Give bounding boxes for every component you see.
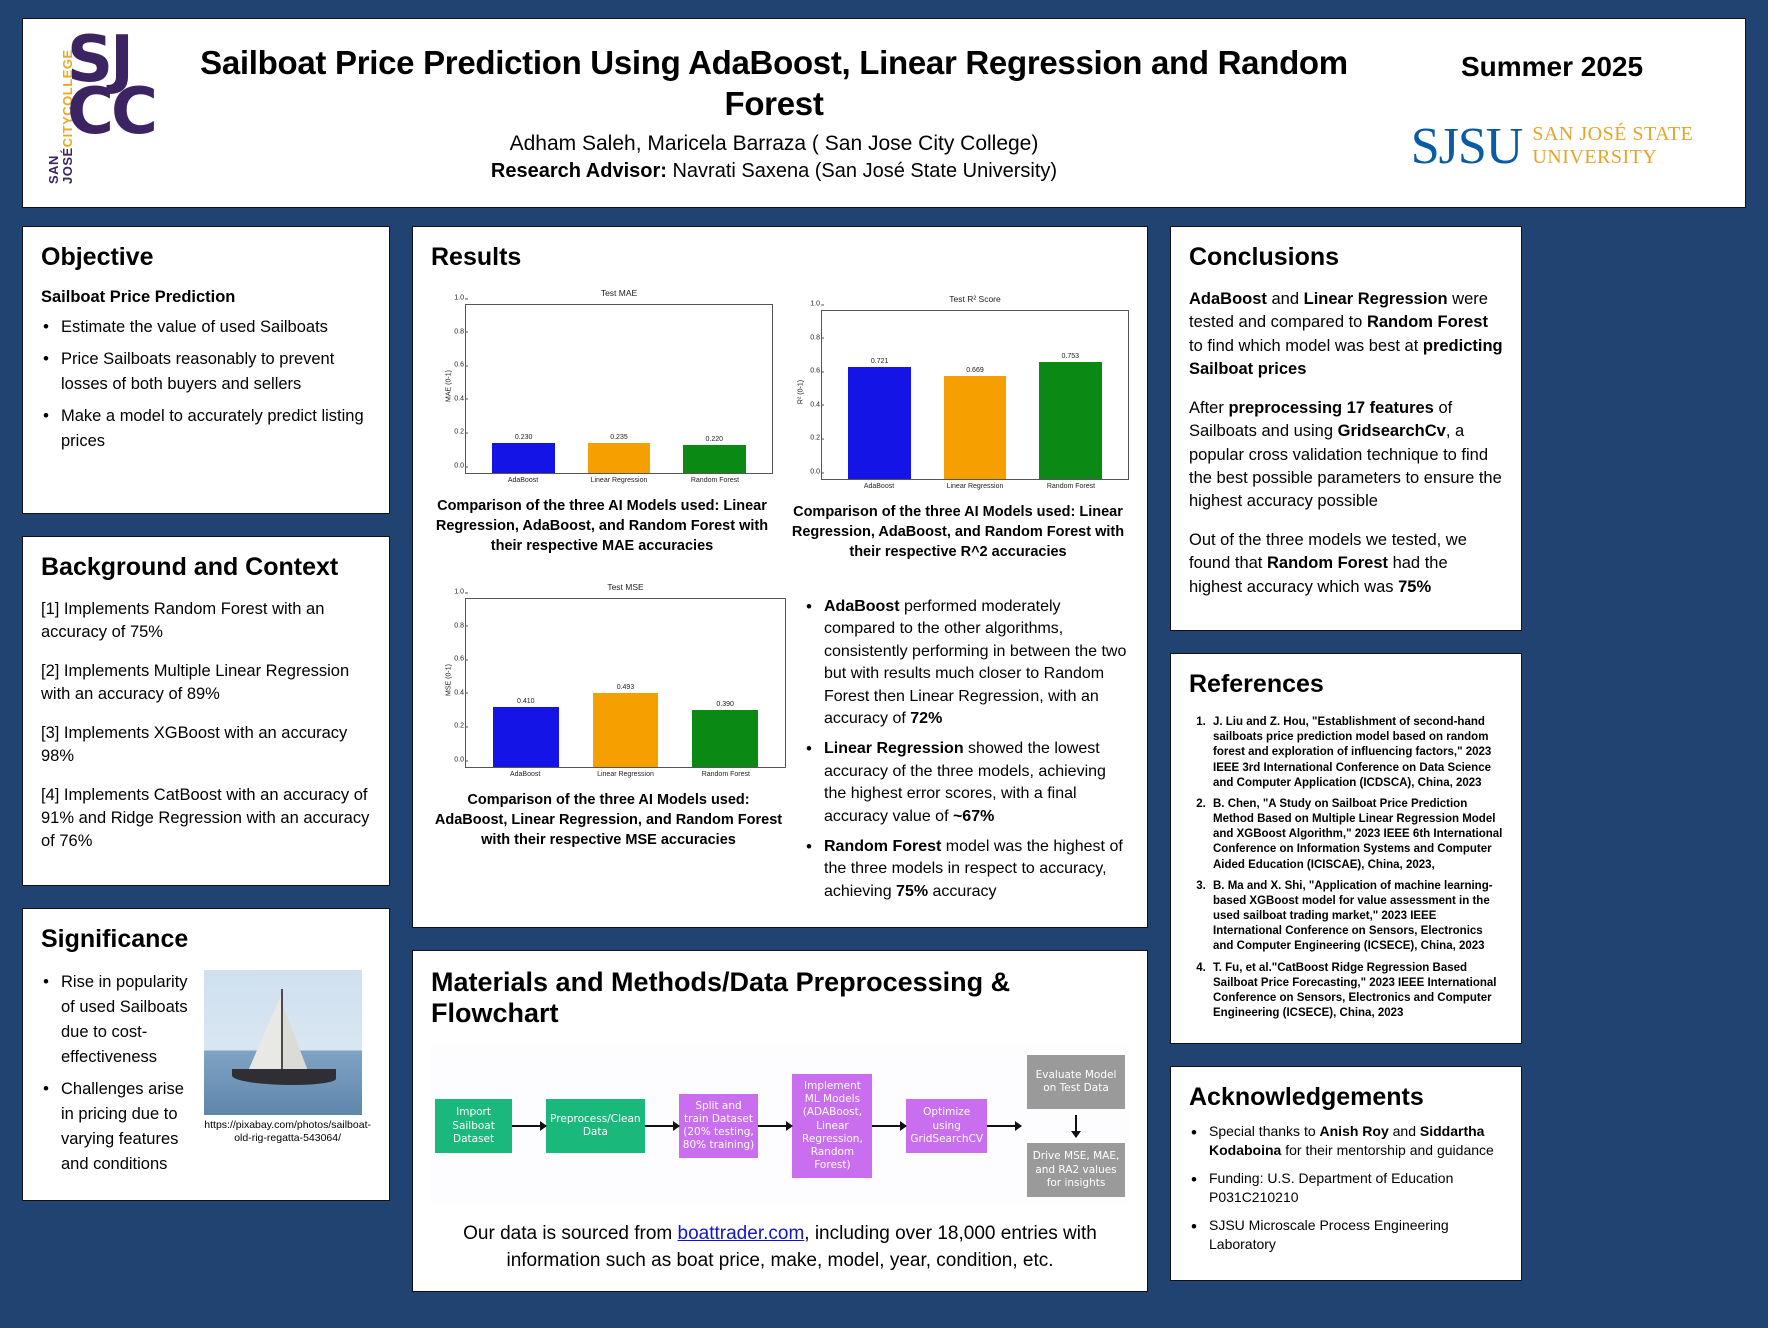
ack-bold: Anish Roy (1320, 1123, 1389, 1139)
methods-heading: Materials and Methods/Data Preprocessing… (431, 967, 1129, 1029)
boattrader-link[interactable]: boattrader.com (678, 1223, 805, 1244)
sjsu-logo-icon: SJSU SAN JOSÉ STATE UNIVERSITY (1377, 117, 1727, 176)
x-tick: Random Forest (683, 477, 746, 484)
objective-card: Objective Sailboat Price Prediction Esti… (22, 226, 390, 514)
ack-text: Special thanks to (1209, 1123, 1320, 1139)
data-source-note: Our data is sourced from boattrader.com,… (431, 1221, 1129, 1275)
acknowledgement-list: Special thanks to Anish Roy and Siddarth… (1189, 1122, 1503, 1254)
conclusions-card: Conclusions AdaBoost and Linear Regressi… (1170, 226, 1522, 631)
list-item: AdaBoost performed moderately compared t… (804, 596, 1129, 730)
chart-test-mae: Test MAE MAE (0-1) 0.0 0.2 0.4 0.6 0.8 1… (431, 288, 773, 562)
bar (683, 445, 746, 473)
sjsu-wordmark: SJSU (1411, 117, 1523, 176)
conclusion-bold: AdaBoost (1189, 290, 1267, 308)
y-tick: 0.6 (444, 362, 464, 369)
bar-value-label: 0.410 (517, 698, 535, 705)
bar (493, 707, 559, 767)
background-item-3: [3] Implements XGBoost with an accuracy … (41, 722, 371, 769)
list-item: SJSU Microscale Process Engineering Labo… (1189, 1216, 1503, 1254)
bar-group: 0.669 (944, 367, 1007, 479)
background-card: Background and Context [1] Implements Ra… (22, 536, 390, 886)
chart-test-r2: Test R² Score R² (0-1) 0.0 0.2 0.4 0.6 0… (787, 288, 1129, 562)
list-item: B. Ma and X. Shi, "Application of machin… (1209, 879, 1503, 955)
references-heading: References (1189, 670, 1503, 699)
bottom-results-row: Test MSE MSE (0-1) 0.0 0.2 0.4 0.6 0.8 1… (431, 582, 1129, 911)
bar-value-label: 0.230 (515, 434, 533, 441)
y-tick: 0.8 (444, 622, 464, 629)
flow-step-derive: Drive MSE, MAE, and RA2 values for insig… (1027, 1143, 1125, 1197)
list-item: J. Liu and Z. Hou, "Establishment of sec… (1209, 715, 1503, 791)
center-column: Results Test MAE MAE (0-1) 0.0 0.2 0.4 0… (412, 226, 1148, 1292)
chart-title: Test MSE (465, 582, 786, 592)
x-axis-labels: AdaBoost Linear Regression Random Forest (821, 480, 1129, 490)
conclusion-text: and (1267, 290, 1304, 308)
list-item: Random Forest model was the highest of t… (804, 836, 1129, 903)
y-tick: 1.0 (444, 589, 464, 596)
ack-text: and (1389, 1123, 1420, 1139)
bar (492, 443, 555, 473)
objective-bullet-list: Estimate the value of used Sailboats Pri… (41, 315, 371, 454)
significance-heading: Significance (41, 925, 371, 954)
right-column: Conclusions AdaBoost and Linear Regressi… (1170, 226, 1522, 1292)
left-column: Objective Sailboat Price Prediction Esti… (22, 226, 390, 1292)
arrow-right-icon (512, 1125, 546, 1127)
methods-card: Materials and Methods/Data Preprocessing… (412, 950, 1148, 1292)
bar (944, 376, 1007, 479)
flow-step-implement: Implement ML Models (ADABoost, Linear Re… (792, 1074, 872, 1178)
acknowledgements-heading: Acknowledgements (1189, 1083, 1503, 1112)
poster-header: SAN JOSÉCITYCOLLEGE SJ CC Sailboat Price… (22, 18, 1746, 208)
objective-heading: Objective (41, 243, 371, 272)
bar-value-label: 0.721 (871, 358, 889, 365)
y-tick: 0.0 (444, 757, 464, 764)
poster-body: Objective Sailboat Price Prediction Esti… (22, 226, 1746, 1292)
results-heading: Results (431, 243, 1129, 272)
chart-caption-mse: Comparison of the three AI Models used: … (431, 790, 786, 850)
list-item: Price Sailboats reasonably to prevent lo… (41, 347, 371, 397)
conclusion-paragraph-3: Out of the three models we tested, we fo… (1189, 529, 1503, 599)
conclusion-bold: preprocessing 17 features (1228, 399, 1433, 417)
y-tick: 0.4 (800, 401, 820, 408)
arrow-right-icon (872, 1125, 906, 1127)
ack-text: for their mentorship and guidance (1281, 1142, 1493, 1158)
sjcc-logo-letters-bottom: CC (67, 86, 155, 138)
finding-text: performed moderately compared to the oth… (824, 598, 1126, 727)
x-tick: Linear Regression (943, 483, 1006, 490)
finding-value: 72% (910, 710, 942, 727)
background-item-2: [2] Implements Multiple Linear Regressio… (41, 660, 371, 707)
arrow-right-icon (758, 1125, 792, 1127)
y-tick: 0.2 (800, 435, 820, 442)
finding-value: ~67% (953, 808, 994, 825)
y-tick: 0.2 (444, 429, 464, 436)
x-axis-labels: AdaBoost Linear Regression Random Forest (465, 474, 773, 484)
finding-model: AdaBoost (824, 598, 900, 615)
chart-caption-mae: Comparison of the three AI Models used: … (431, 496, 773, 556)
plot-area: 0.0 0.2 0.4 0.6 0.8 1.0 0.4100.4930.390 (465, 598, 786, 768)
flow-step-preprocess: Preprocess/Clean Data (546, 1099, 644, 1153)
y-tick: 0.4 (444, 395, 464, 402)
x-tick: Linear Regression (592, 771, 658, 778)
bar-group: 0.493 (593, 684, 659, 767)
bar-group: 0.410 (493, 698, 559, 767)
conclusion-bold: GridsearchCv (1338, 422, 1446, 440)
chart-title: Test R² Score (821, 294, 1129, 304)
image-credit: https://pixabay.com/photos/sailboat-old-… (204, 1119, 371, 1146)
bar-value-label: 0.753 (1062, 353, 1080, 360)
y-tick: 0.2 (444, 723, 464, 730)
bar (1039, 362, 1102, 480)
significance-card: Significance Rise in popularity of used … (22, 908, 390, 1202)
author-list: Adham Saleh, Maricela Barraza ( San Jose… (181, 132, 1367, 156)
chart-caption-r2: Comparison of the three AI Models used: … (787, 502, 1129, 562)
term-label: Summer 2025 (1377, 51, 1727, 83)
conclusion-bold: Random Forest (1367, 313, 1488, 331)
y-tick: 0.8 (800, 334, 820, 341)
flow-step-evaluate: Evaluate Model on Test Data (1027, 1055, 1125, 1109)
bar-group: 0.230 (492, 434, 555, 473)
bar (692, 710, 758, 767)
bar-value-label: 0.390 (716, 701, 734, 708)
bar-group: 0.390 (692, 701, 758, 767)
sailboat-photo (204, 970, 362, 1115)
advisor-name: Navrati Saxena (San José State Universit… (672, 160, 1057, 182)
data-source-prefix: Our data is sourced from (463, 1223, 677, 1244)
list-item: Linear Regression showed the lowest accu… (804, 738, 1129, 828)
plot-area: 0.0 0.2 0.4 0.6 0.8 1.0 0.2300.2350.220 (465, 304, 773, 474)
x-tick: AdaBoost (847, 483, 910, 490)
results-bullet-list: AdaBoost performed moderately compared t… (804, 596, 1129, 903)
finding-value: 75% (896, 883, 928, 900)
y-tick: 1.0 (800, 301, 820, 308)
chart-title: Test MAE (465, 288, 773, 298)
list-item: Special thanks to Anish Roy and Siddarth… (1189, 1122, 1503, 1160)
x-tick: AdaBoost (492, 771, 558, 778)
bar-value-label: 0.235 (610, 434, 628, 441)
conclusion-paragraph-1: AdaBoost and Linear Regression were test… (1189, 288, 1503, 382)
y-tick: 0.8 (444, 328, 464, 335)
finding-model: Linear Regression (824, 740, 964, 757)
bar (848, 367, 911, 479)
conclusion-paragraph-2: After preprocessing 17 features of Sailb… (1189, 397, 1503, 514)
background-item-4: [4] Implements CatBoost with an accuracy… (41, 784, 371, 854)
sjsu-line-2: UNIVERSITY (1532, 146, 1693, 169)
flow-step-optimize: Optimize using GridSearchCV (906, 1099, 987, 1153)
list-item: T. Fu, et al."CatBoost Ridge Regression … (1209, 961, 1503, 1022)
flow-step-import: Import Sailboat Dataset (435, 1099, 512, 1153)
y-tick: 0.0 (444, 463, 464, 470)
plot-area: 0.0 0.2 0.4 0.6 0.8 1.0 0.7210.6690.753 (821, 310, 1129, 480)
conclusion-bold: 75% (1398, 578, 1431, 596)
x-tick: Random Forest (1039, 483, 1102, 490)
bar-value-label: 0.220 (706, 436, 724, 443)
x-tick: Linear Regression (587, 477, 650, 484)
y-tick: 0.0 (800, 469, 820, 476)
bar-value-label: 0.493 (617, 684, 635, 691)
conclusion-bold: Linear Regression (1304, 290, 1448, 308)
list-item: Make a model to accurately predict listi… (41, 404, 371, 454)
sjsu-line-1: SAN JOSÉ STATE (1532, 123, 1693, 146)
research-advisor: Research Advisor: Navrati Saxena (San Jo… (181, 160, 1367, 183)
header-right: Summer 2025 SJSU SAN JOSÉ STATE UNIVERSI… (1377, 51, 1727, 176)
flowchart: Import Sailboat Dataset Preprocess/Clean… (431, 1045, 1129, 1203)
results-findings: AdaBoost performed moderately compared t… (804, 582, 1129, 911)
conclusions-heading: Conclusions (1189, 243, 1503, 272)
header-center: Sailboat Price Prediction Using AdaBoost… (171, 43, 1377, 184)
bar-value-label: 0.669 (966, 367, 984, 374)
sjcc-logo-vertical-purple: SAN JOSÉ (46, 147, 75, 184)
bar-group: 0.235 (588, 434, 651, 473)
bar-group: 0.220 (683, 436, 746, 473)
flow-step-split: Split and train Dataset (20% testing, 80… (679, 1094, 759, 1159)
advisor-label: Research Advisor: (491, 160, 667, 182)
sjcc-logo-icon: SAN JOSÉCITYCOLLEGE SJ CC (41, 28, 171, 198)
list-item: Rise in popularity of used Sailboats due… (41, 970, 192, 1070)
x-tick: AdaBoost (491, 477, 554, 484)
top-charts-row: Test MAE MAE (0-1) 0.0 0.2 0.4 0.6 0.8 1… (431, 288, 1129, 562)
bar-group: 0.753 (1039, 353, 1102, 480)
flowchart-row: Import Sailboat Dataset Preprocess/Clean… (435, 1055, 1125, 1197)
conclusion-text: After (1189, 399, 1228, 417)
bar-group: 0.721 (848, 358, 911, 479)
list-item: B. Chen, "A Study on Sailboat Price Pred… (1209, 797, 1503, 873)
significance-image-block: https://pixabay.com/photos/sailboat-old-… (204, 970, 371, 1185)
bar (588, 443, 651, 473)
chart-test-mse: Test MSE MSE (0-1) 0.0 0.2 0.4 0.6 0.8 1… (431, 582, 786, 911)
list-item: Funding: U.S. Department of Education P0… (1189, 1169, 1503, 1207)
list-item: Estimate the value of used Sailboats (41, 315, 371, 340)
results-card: Results Test MAE MAE (0-1) 0.0 0.2 0.4 0… (412, 226, 1148, 928)
list-item: Challenges arise in pricing due to varyi… (41, 1077, 192, 1177)
background-heading: Background and Context (41, 553, 371, 582)
finding-model: Random Forest (824, 838, 941, 855)
objective-lead: Sailboat Price Prediction (41, 288, 371, 307)
y-tick: 0.6 (800, 368, 820, 375)
arrow-right-icon (645, 1125, 679, 1127)
x-axis-labels: AdaBoost Linear Regression Random Forest (465, 768, 786, 778)
y-tick: 1.0 (444, 295, 464, 302)
significance-bullet-list: Rise in popularity of used Sailboats due… (41, 970, 192, 1185)
arrow-right-icon (987, 1125, 1021, 1127)
references-card: References J. Liu and Z. Hou, "Establish… (1170, 653, 1522, 1044)
page-title: Sailboat Price Prediction Using AdaBoost… (181, 43, 1367, 125)
background-item-1: [1] Implements Random Forest with an acc… (41, 598, 371, 645)
acknowledgements-card: Acknowledgements Special thanks to Anish… (1170, 1066, 1522, 1280)
conclusion-bold: Random Forest (1267, 554, 1388, 572)
y-tick: 0.6 (444, 656, 464, 663)
reference-list: J. Liu and Z. Hou, "Establishment of sec… (1209, 715, 1503, 1021)
x-tick: Random Forest (693, 771, 759, 778)
finding-text-tail: accuracy (928, 883, 996, 900)
y-tick: 0.4 (444, 689, 464, 696)
poster-root: SAN JOSÉCITYCOLLEGE SJ CC Sailboat Price… (0, 0, 1768, 1328)
conclusion-text: to find which model was best at (1189, 337, 1423, 355)
arrow-down-icon (1075, 1115, 1077, 1137)
bar (593, 693, 659, 767)
